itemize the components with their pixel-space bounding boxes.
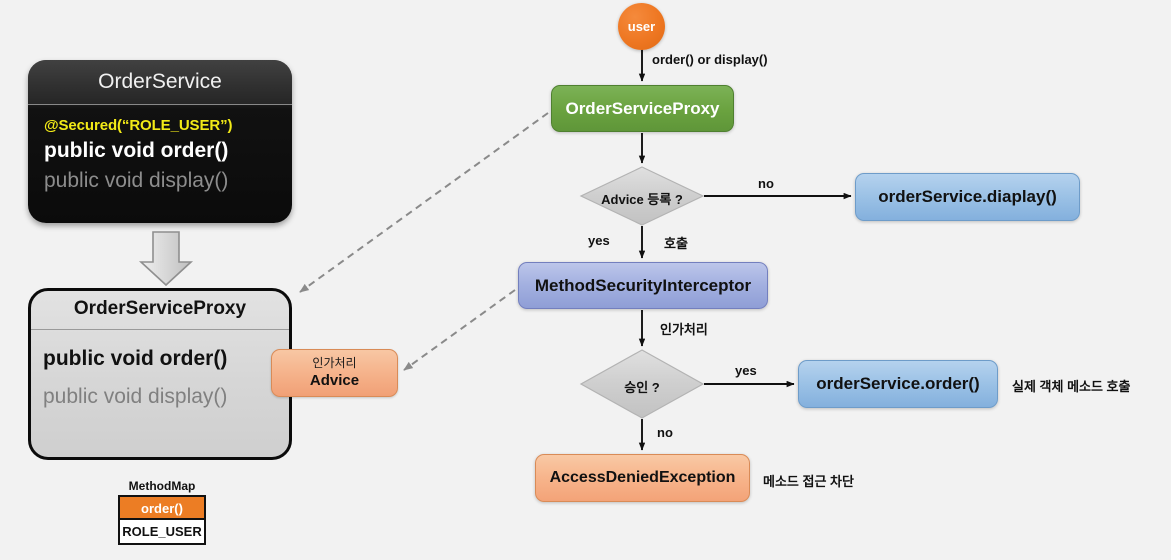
- flow-node-method-security-interceptor: MethodSecurityInterceptor: [518, 262, 768, 309]
- flow-node-order-service-order: orderService.order(): [798, 360, 998, 408]
- method-map-key-cell: order(): [118, 495, 206, 520]
- method-display-unsecured: public void display(): [44, 165, 292, 197]
- decision-advice-label: Advice 등록 ?: [582, 189, 702, 208]
- edge-label-authorization: 인가처리: [660, 319, 708, 338]
- edge-label-advice-yes: yes: [588, 233, 610, 248]
- note-method-access-blocked: 메소드 접근 차단: [763, 471, 854, 490]
- proxy-method-display: public void display(): [43, 374, 289, 420]
- method-map-caption: MethodMap: [118, 478, 206, 495]
- edge-map-interceptor-to-advice: [404, 290, 515, 370]
- class-box-order-service-proxy-title: OrderServiceProxy: [31, 291, 289, 330]
- flow-node-order-service-proxy: OrderServiceProxy: [551, 85, 734, 132]
- edge-label-approve-no: no: [657, 425, 673, 440]
- class-box-order-service-body: @Secured(“ROLE_USER”) public void order(…: [28, 105, 292, 197]
- decision-approve-label: 승인 ?: [592, 377, 692, 396]
- class-box-order-service-proxy-body: public void order() public void display(…: [31, 330, 289, 420]
- diagram-canvas: OrderService @Secured(“ROLE_USER”) publi…: [0, 0, 1171, 560]
- flow-node-access-denied-exception: AccessDeniedException: [535, 454, 750, 502]
- method-map-value-cell: ROLE_USER: [118, 520, 206, 545]
- edge-map-proxy-to-classbox: [300, 113, 548, 292]
- edge-label-order-or-display: order() or display(): [652, 52, 768, 67]
- transform-down-arrow: [141, 232, 191, 285]
- secured-annotation: @Secured(“ROLE_USER”): [44, 115, 292, 137]
- class-box-order-service-title: OrderService: [28, 60, 292, 105]
- edge-label-advice-call: 호출: [664, 233, 688, 252]
- flow-node-order-service-display: orderService.diaplay(): [855, 173, 1080, 221]
- user-node: user: [618, 3, 665, 50]
- class-box-order-service-proxy: OrderServiceProxy public void order() pu…: [28, 288, 292, 460]
- advice-badge-subtitle: 인가처리: [272, 355, 397, 371]
- edge-label-advice-no: no: [758, 176, 774, 191]
- proxy-method-order: public void order(): [43, 344, 289, 374]
- edge-label-approve-yes: yes: [735, 363, 757, 378]
- method-order-secured: public void order(): [44, 137, 292, 165]
- method-map-table: MethodMap order() ROLE_USER: [118, 478, 206, 545]
- advice-badge-title: Advice: [272, 371, 397, 390]
- advice-badge: 인가처리 Advice: [271, 349, 398, 397]
- class-box-order-service: OrderService @Secured(“ROLE_USER”) publi…: [28, 60, 292, 223]
- note-real-method-call: 실제 객체 메소드 호출: [1012, 376, 1130, 395]
